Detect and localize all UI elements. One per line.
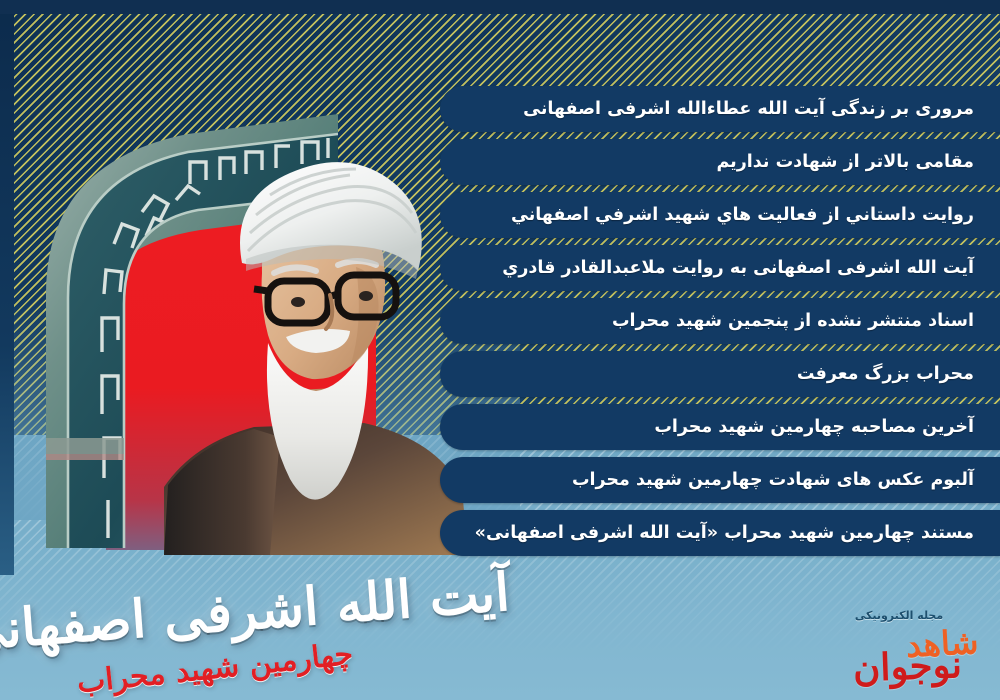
list-item[interactable]: اسناد منتشر نشده از پنجمین شهید محراب [440,298,1000,344]
poster-canvas: آیت الله اشرفی اصفهانی چهارمین شهید محرا… [0,0,1000,700]
list-item[interactable]: آیت الله اشرفی اصفهانی به روایت ملاعبدال… [440,245,1000,291]
list-item[interactable]: مستند چهارمین شهید محراب «آیت الله اشرفی… [440,510,1000,556]
list-item-label: مستند چهارمین شهید محراب «آیت الله اشرفی… [475,522,974,545]
list-item[interactable]: روایت داستاني از فعالیت هاي شهید اشرفي ا… [440,192,1000,238]
list-item-label: آلبوم عکس های شهادت چهارمین شهید محراب [572,469,974,492]
list-item[interactable]: آخرین مصاحبه چهارمین شهید محراب [440,404,1000,450]
article-list: مروری بر زندگی آیت الله عطاءالله اشرفی ا… [440,86,1000,556]
title-block: آیت الله اشرفی اصفهانی چهارمین شهید محرا… [40,581,510,686]
list-item-label: روایت داستاني از فعالیت هاي شهید اشرفي ا… [511,204,974,227]
list-item-label: اسناد منتشر نشده از پنجمین شهید محراب [612,310,974,333]
list-item-label: آخرین مصاحبه چهارمین شهید محراب [654,416,974,439]
list-item[interactable]: محراب بزرگ معرفت [440,351,1000,397]
list-item-label: مروری بر زندگی آیت الله عطاءالله اشرفی ا… [523,98,974,121]
list-item[interactable]: مقامی بالاتر از شهادت نداریم [440,139,1000,185]
magazine-logo[interactable]: مجله الکترونیکی شاهد نوجوان [814,609,984,684]
logo-name-bottom: نوجوان [852,642,962,690]
list-item[interactable]: مروری بر زندگی آیت الله عطاءالله اشرفی ا… [440,86,1000,132]
list-item-label: مقامی بالاتر از شهادت نداریم [716,151,974,174]
list-item-label: محراب بزرگ معرفت [797,363,974,386]
cleric-portrait [150,155,480,555]
logo-kicker: مجله الکترونیکی [814,609,984,622]
list-item[interactable]: آلبوم عکس های شهادت چهارمین شهید محراب [440,457,1000,503]
artwork-group [10,40,480,545]
list-item-label: آیت الله اشرفی اصفهانی به روایت ملاعبدال… [502,257,974,280]
logo-mark: شاهد نوجوان [814,624,984,684]
top-edge-strip [0,0,1000,14]
